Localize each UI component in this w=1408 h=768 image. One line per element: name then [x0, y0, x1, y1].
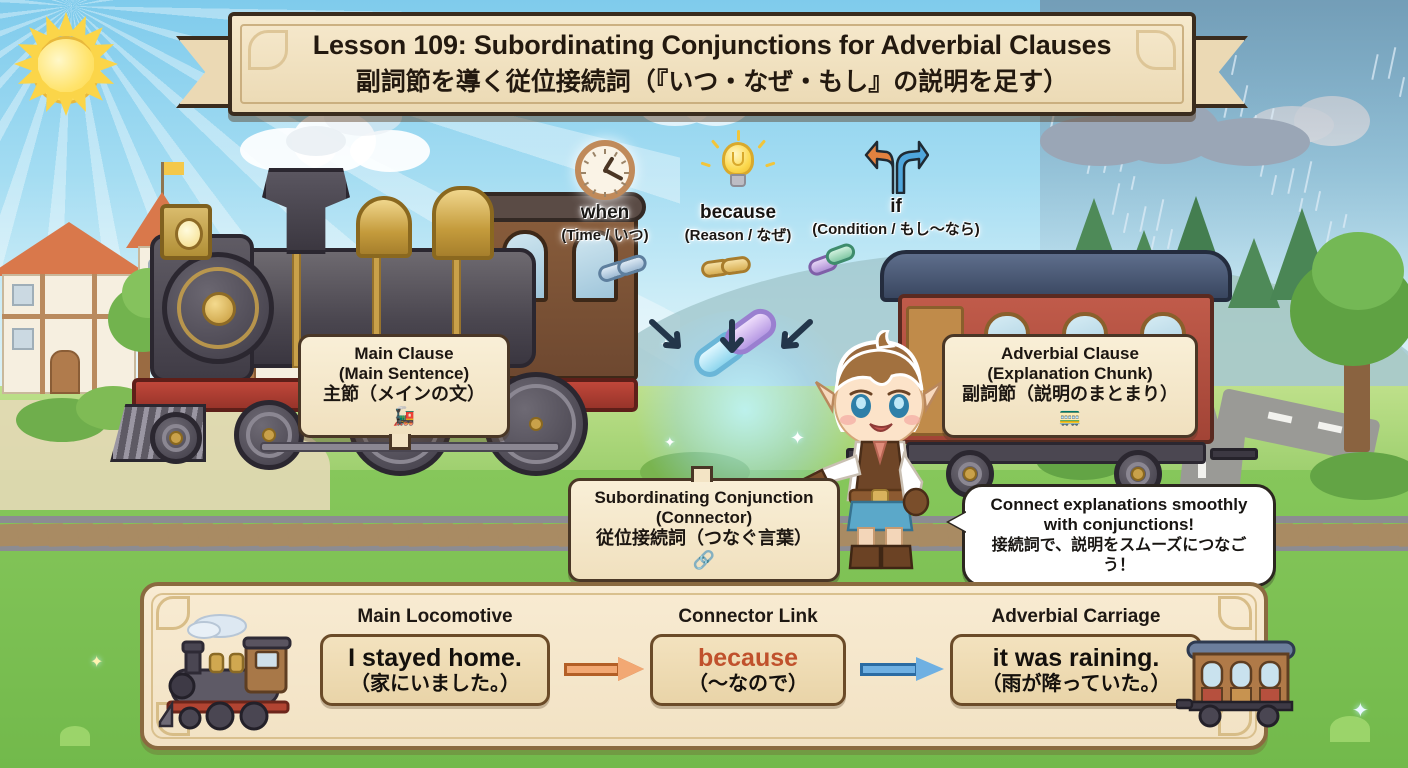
callout-adverbial-clause: Adverbial Clause (Explanation Chunk) 副詞節…: [942, 334, 1198, 438]
clock-icon: [575, 140, 635, 200]
bubble-line-jp: 接続詞で、説明をスムーズにつなごう！: [979, 536, 1259, 576]
clock-tick: [592, 152, 596, 157]
callout-main-clause: Main Clause (Main Sentence) 主節（メインの文）🚂: [298, 334, 510, 438]
arrow-connector-to-adverbial: [860, 658, 944, 680]
carriage-coupler: [1210, 448, 1258, 460]
sentence-jp: （家にいました。）: [341, 672, 529, 696]
converging-arrow-center: [718, 318, 746, 367]
callout-line-en1: Subordinating Conjunction: [587, 488, 821, 508]
callout-line-en2: (Main Sentence): [317, 364, 491, 384]
rail-tie: [1398, 523, 1408, 547]
callout-line-en1: Main Clause: [317, 344, 491, 364]
callout-line-jp: 従位接続詞（つなぐ言葉）🔗: [587, 528, 821, 572]
sun-icon: [14, 18, 118, 122]
grass-tuft: [60, 726, 90, 746]
rain-drop: [1371, 54, 1378, 80]
conjunction-if: if (Condition / もし〜なら): [810, 136, 982, 239]
rain-drop: [1139, 206, 1146, 232]
smokestack: [262, 168, 350, 254]
rain-drop: [1388, 47, 1397, 79]
rain-drop: [1304, 161, 1313, 193]
bubble-line-1: Connect explanations smoothly: [979, 495, 1259, 515]
rain-drop: [1343, 214, 1348, 228]
locomotive-wheel: [234, 400, 304, 470]
clock-tick: [621, 182, 626, 186]
callout-line-en1: Adverbial Clause: [961, 344, 1179, 364]
mini-carriage-icon: [1176, 624, 1306, 732]
column-heading: Main Locomotive: [320, 606, 550, 628]
sentence-en: because: [671, 644, 825, 672]
mini-locomotive-icon: [158, 604, 318, 734]
sparkle-icon: ✦: [90, 652, 103, 672]
clock-tick: [624, 172, 629, 174]
callout-line-en2: (Connector): [587, 508, 821, 528]
sentence-box-adverbial: it was raining. （雨が降っていた。）: [950, 634, 1202, 706]
column-heading: Connector Link: [650, 606, 846, 628]
fork-arrows-icon: [863, 136, 929, 194]
conjunction-when: when (Time / いつ): [545, 140, 665, 245]
arrow-main-to-connector: [564, 658, 644, 680]
panel-column-connector: Connector Link because （〜なので）: [650, 606, 846, 706]
panel-column-main: Main Locomotive I stayed home. （家にいました。）: [320, 606, 550, 706]
lesson-title-en: Lesson 109: Subordinating Conjunctions f…: [313, 30, 1112, 61]
conjunction-keyword: when: [581, 202, 630, 224]
sentence-en: I stayed home.: [341, 644, 529, 672]
clock-tick: [584, 182, 589, 186]
sentence-box-connector: because （〜なので）: [650, 634, 846, 706]
rain-drop: [1399, 77, 1405, 97]
callout-connector: Subordinating Conjunction (Connector) 従位…: [568, 478, 840, 582]
example-sentence-panel: Main Locomotive I stayed home. （家にいました。）…: [140, 582, 1268, 750]
sparkle-icon: ✦: [1352, 698, 1369, 723]
lesson-title-banner: Lesson 109: Subordinating Conjunctions f…: [176, 8, 1248, 120]
lesson-title-jp: 副詞節を導く従位接続詞（『いつ・なぜ・もし』の説明を足す）: [356, 62, 1069, 98]
bubble-line-2: with conjunctions!: [979, 515, 1259, 535]
converging-arrow-left: [648, 318, 694, 365]
rain-drop: [1271, 175, 1277, 195]
panel-column-adverbial: Adverbial Carriage it was raining. （雨が降っ…: [950, 606, 1202, 706]
conjunction-because: because (Reason / なぜ): [676, 138, 800, 245]
sentence-box-main: I stayed home. （家にいました。）: [320, 634, 550, 706]
callout-line-jp: 副詞節（説明のまとまり）🚃: [961, 384, 1179, 428]
clock-tick: [604, 149, 606, 154]
callout-line-en2: (Explanation Chunk): [961, 364, 1179, 384]
conjunction-subtitle: (Condition / もし〜なら): [812, 218, 979, 239]
steam-dome: [356, 196, 412, 258]
clock-tick: [584, 160, 589, 164]
locomotive-wheel: [150, 412, 202, 464]
rain-drop: [1287, 168, 1294, 194]
clock-tick: [621, 160, 626, 164]
clock-minute-hand: [604, 168, 624, 181]
sentence-en: it was raining.: [971, 644, 1181, 672]
clock-tick: [614, 189, 618, 194]
sand-dome: [432, 186, 494, 260]
clock-tick: [614, 152, 618, 157]
clock-tick: [604, 192, 606, 197]
conjunction-keyword: because: [700, 202, 776, 224]
headlamp: [160, 204, 212, 260]
clock-tick: [592, 189, 596, 194]
illustration-canvas: Lesson 109: Subordinating Conjunctions f…: [0, 0, 1408, 768]
lightbulb-icon: [709, 138, 767, 200]
conjunction-subtitle: (Reason / なぜ): [685, 224, 792, 245]
column-heading: Adverbial Carriage: [950, 606, 1202, 628]
rain-drop: [1131, 176, 1136, 190]
conjunction-subtitle: (Time / いつ): [561, 224, 648, 245]
big-tree-right: [1290, 232, 1408, 452]
sentence-jp: （〜なので）: [671, 672, 825, 696]
clock-tick: [581, 172, 586, 174]
character-speech-bubble: Connect explanations smoothly with conju…: [962, 484, 1276, 587]
sentence-jp: （雨が降っていた。）: [971, 672, 1181, 696]
conjunction-keyword: if: [890, 196, 902, 218]
sparkle-icon: ✦: [664, 434, 676, 451]
callout-line-jp: 主節（メインの文）🚂: [317, 384, 491, 428]
